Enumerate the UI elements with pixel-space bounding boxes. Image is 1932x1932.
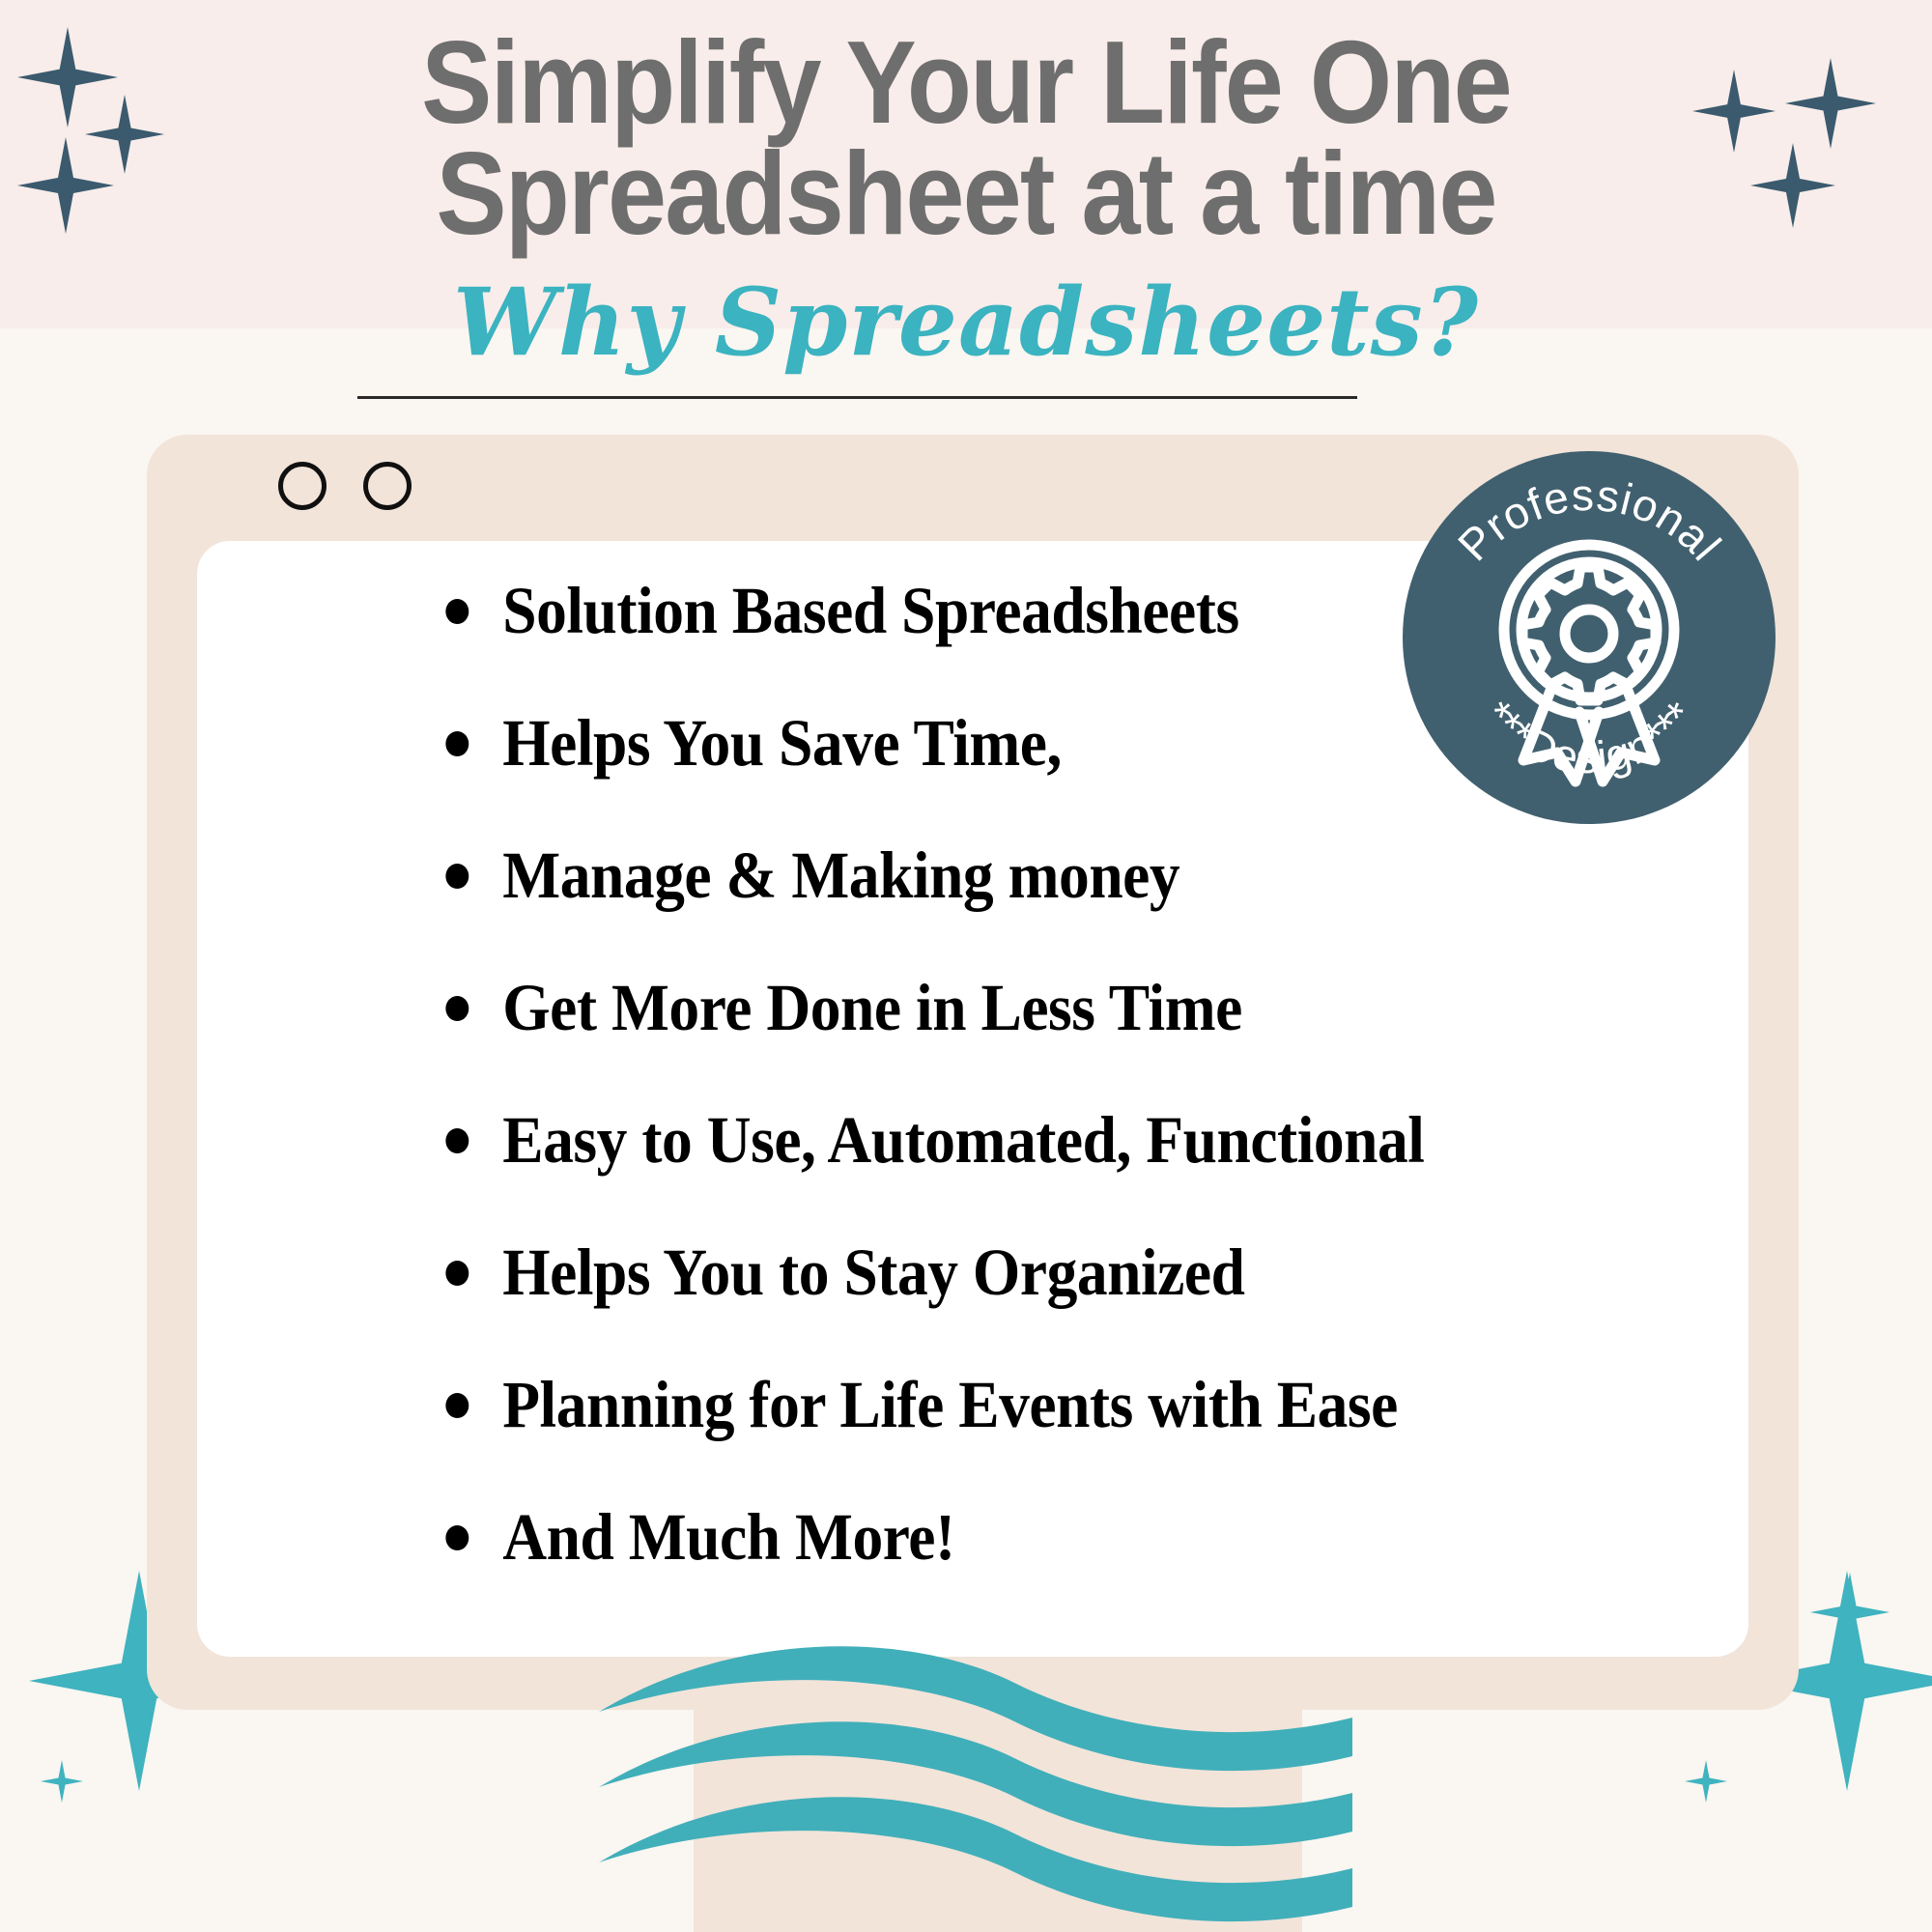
subtitle: Why Spreadsheets? [0, 276, 1932, 369]
poster-canvas: Simplify Your Life One Spreadsheet at a … [0, 0, 1932, 1932]
window-controls[interactable] [278, 462, 412, 510]
professional-design-badge: Professional ***Design*** [1401, 449, 1777, 826]
list-item: Easy to Use, Automated, Functional [439, 1107, 1611, 1174]
subtitle-rule [357, 396, 1357, 399]
sparkle-teal-icon [41, 1760, 83, 1803]
list-item: Manage & Making money [439, 842, 1611, 909]
list-item: And Much More! [439, 1504, 1611, 1571]
list-item: Helps You to Stay Organized [439, 1239, 1611, 1306]
wave-decoration [599, 1642, 1352, 1932]
page-title: Simplify Your Life One Spreadsheet at a … [97, 27, 1835, 248]
list-item: Get More Done in Less Time [439, 975, 1611, 1041]
list-item: Planning for Life Events with Ease [439, 1372, 1611, 1438]
window-control-circle-icon[interactable] [278, 462, 327, 510]
sparkle-teal-icon [1685, 1760, 1727, 1803]
sparkle-teal-icon [1810, 1573, 1889, 1652]
window-control-circle-icon[interactable] [363, 462, 412, 510]
